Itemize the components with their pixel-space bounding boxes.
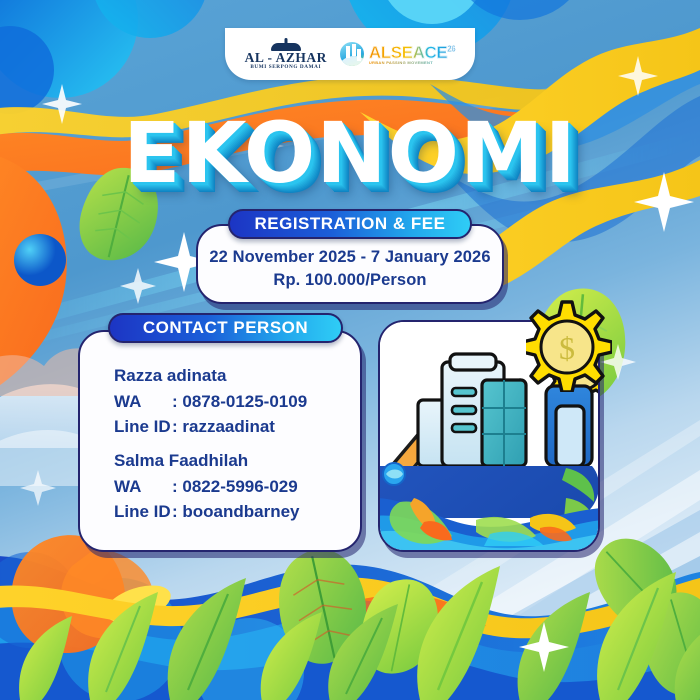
al-azhar-subtitle: BUMI SERPONG DAMAI: [250, 65, 321, 70]
contact-line-row: Line ID : razzaadinat: [114, 417, 360, 437]
contact-person-2: Salma Faadhilah WA : 0822-5996-029 Line …: [114, 451, 360, 522]
contact-wa-label: WA: [114, 392, 172, 412]
contact-name: Salma Faadhilah: [114, 451, 360, 471]
page-title: EKONOMI: [0, 104, 700, 202]
contact-wa-label: WA: [114, 477, 172, 497]
alseace-year: 26: [447, 44, 455, 53]
poster-canvas: AL - AZHAR BUMI SERPONG DAMAI ALSEACE26 …: [0, 0, 700, 700]
al-azhar-name: AL - AZHAR: [245, 51, 327, 65]
alseace-word: ALSEACE: [369, 43, 447, 62]
logo-al-azhar: AL - AZHAR BUMI SERPONG DAMAI: [245, 38, 327, 71]
contact-person-1: Razza adinata WA : 0878-0125-0109 Line I…: [114, 366, 360, 437]
mosque-dome-icon: [263, 38, 309, 51]
logo-alseace: ALSEACE26 URBAN PASSING MOVEMENT: [339, 41, 456, 67]
illustration-card: $: [378, 320, 600, 552]
alseace-name: ALSEACE26: [369, 44, 456, 61]
contact-card: Razza adinata WA : 0878-0125-0109 Line I…: [78, 330, 362, 552]
contact-wa-value[interactable]: : 0822-5996-029: [172, 477, 298, 497]
contact-wa-row: WA : 0878-0125-0109: [114, 392, 360, 412]
dollar-gear-overlay-icon: $: [526, 300, 612, 392]
logo-bar: AL - AZHAR BUMI SERPONG DAMAI ALSEACE26 …: [225, 28, 475, 80]
contact-name: Razza adinata: [114, 366, 360, 386]
contact-line-row: Line ID : booandbarney: [114, 502, 360, 522]
svg-text:$: $: [559, 330, 575, 366]
contact-line-value[interactable]: : booandbarney: [172, 502, 300, 522]
contact-line-label: Line ID: [114, 417, 172, 437]
contact-badge: CONTACT PERSON: [108, 313, 343, 343]
registration-date-range: 22 November 2025 - 7 January 2026: [209, 248, 490, 267]
contact-line-label: Line ID: [114, 502, 172, 522]
contact-line-value[interactable]: : razzaadinat: [172, 417, 275, 437]
registration-price: Rp. 100.000/Person: [273, 271, 426, 290]
contact-wa-row: WA : 0822-5996-029: [114, 477, 360, 497]
registration-badge: REGISTRATION & FEE: [228, 209, 472, 239]
alseace-city-wave-icon: [339, 41, 365, 67]
contact-wa-value[interactable]: : 0878-0125-0109: [172, 392, 307, 412]
